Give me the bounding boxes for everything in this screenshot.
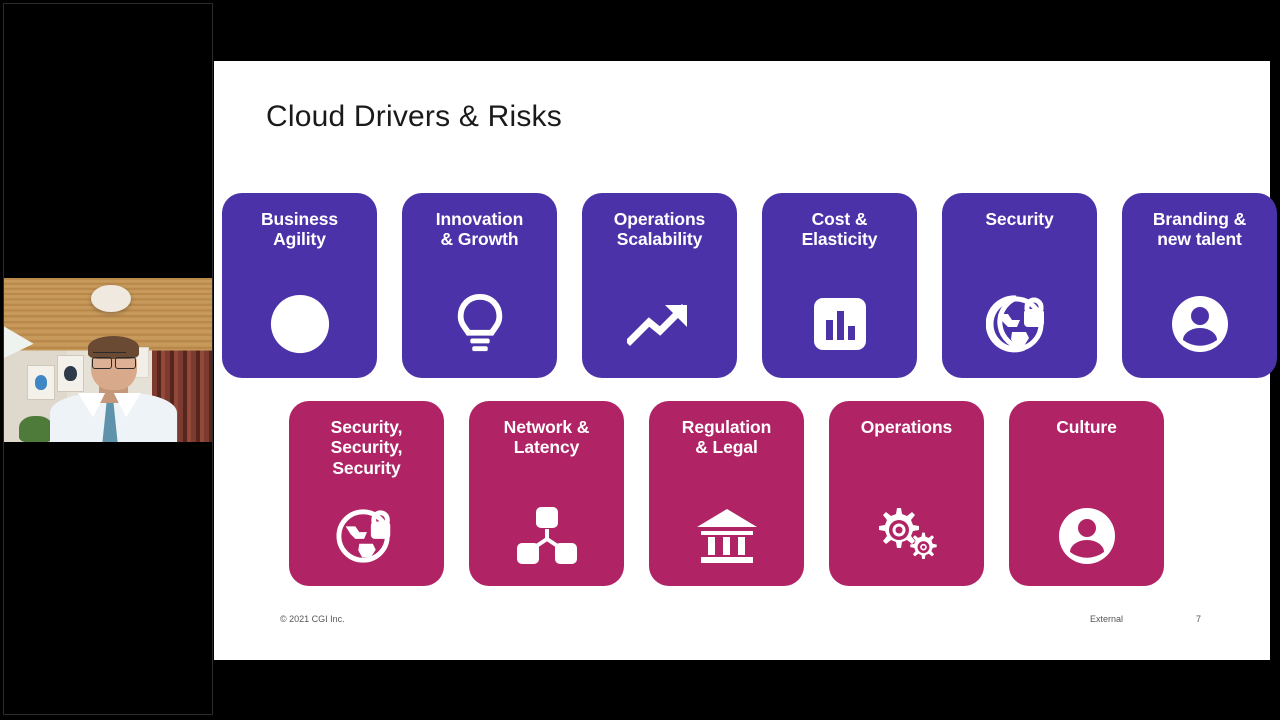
risk-card-security[interactable]: Security,Security,Security — [289, 401, 444, 586]
page-title: Cloud Drivers & Risks — [266, 100, 562, 134]
lightbulb-icon — [402, 292, 557, 356]
risk-card-regulation-legal[interactable]: Regulation& Legal — [649, 401, 804, 586]
webcam-ceiling-lamp-icon — [91, 285, 131, 313]
slide-canvas: Cloud Drivers & Risks BusinessAgility In… — [214, 61, 1270, 660]
picture-shape — [64, 366, 77, 381]
risk-card-label: Security,Security,Security — [296, 417, 438, 478]
webcam-wall-picture-2 — [57, 355, 84, 391]
driver-card-security[interactable]: Security — [942, 193, 1097, 378]
drivers-row: BusinessAgility Innovation& Growth — [222, 193, 1277, 378]
person-icon — [1122, 292, 1277, 356]
risk-card-network-latency[interactable]: Network &Latency — [469, 401, 624, 586]
bank-building-icon — [649, 504, 804, 568]
network-hierarchy-icon — [469, 504, 624, 568]
driver-card-label: Branding &new talent — [1129, 209, 1271, 250]
person-icon — [1009, 504, 1164, 568]
footer-copyright: © 2021 CGI Inc. — [280, 614, 345, 624]
webcam-scene — [4, 278, 213, 442]
picture-shape — [35, 375, 48, 390]
driver-card-label: Security — [949, 209, 1091, 229]
webcam-person-hair — [88, 336, 139, 359]
webcam-person-glasses — [92, 357, 136, 367]
webcam-video-tile[interactable] — [4, 278, 213, 442]
webcam-plant — [19, 416, 53, 442]
glasses-lens-left — [92, 357, 113, 369]
risk-card-operations[interactable]: Operations — [829, 401, 984, 586]
risk-card-label: Network &Latency — [476, 417, 618, 458]
risk-card-label: Culture — [1016, 417, 1158, 437]
risk-card-label: Operations — [836, 417, 978, 437]
driver-card-cost-elasticity[interactable]: Cost &Elasticity — [762, 193, 917, 378]
video-conference-panel — [3, 3, 213, 715]
webcam-wall-picture-1 — [27, 365, 54, 400]
driver-card-label: Cost &Elasticity — [769, 209, 911, 250]
glasses-lens-right — [115, 357, 136, 369]
risks-row: Security,Security,Security Network &Late… — [289, 401, 1164, 586]
gears-icon — [829, 504, 984, 568]
driver-card-label: OperationsScalability — [589, 209, 731, 250]
presentation-screen: Cloud Drivers & Risks BusinessAgility In… — [0, 0, 1280, 720]
footer-page-number: 7 — [1196, 614, 1201, 624]
globe-lock-icon — [289, 504, 444, 568]
driver-card-branding-new-talent[interactable]: Branding &new talent — [1122, 193, 1277, 378]
driver-card-label: BusinessAgility — [229, 209, 371, 250]
footer-classification: External — [1090, 614, 1123, 624]
trending-up-arrow-icon — [582, 292, 737, 356]
driver-card-business-agility[interactable]: BusinessAgility — [222, 193, 377, 378]
driver-card-operations-scalability[interactable]: OperationsScalability — [582, 193, 737, 378]
bar-chart-icon — [762, 292, 917, 356]
compass-icon — [222, 292, 377, 356]
risk-card-culture[interactable]: Culture — [1009, 401, 1164, 586]
risk-card-label: Regulation& Legal — [656, 417, 798, 458]
driver-card-label: Innovation& Growth — [409, 209, 551, 250]
webcam-person-glasses-bridge — [93, 352, 127, 354]
driver-card-innovation-growth[interactable]: Innovation& Growth — [402, 193, 557, 378]
globe-lock-icon — [942, 292, 1097, 356]
